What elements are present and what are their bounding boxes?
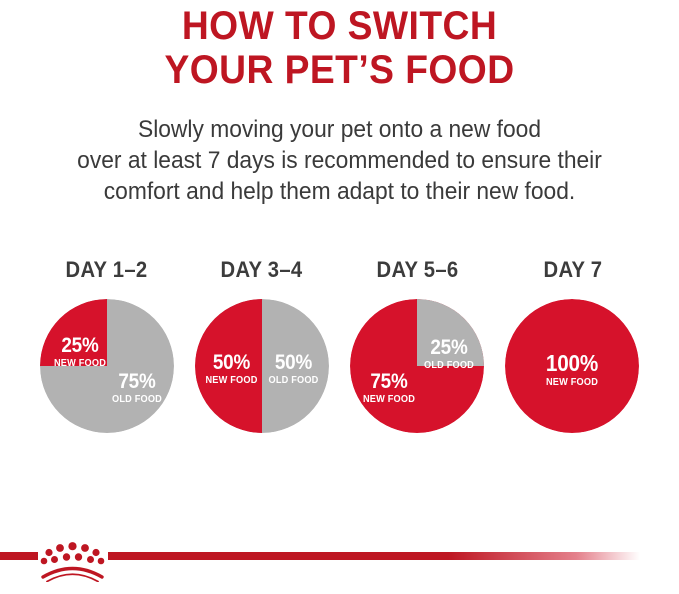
crown-arc	[43, 569, 102, 578]
pie-chart-day-1-2: DAY 1–2 25% NEW FOOD 75% OLD FOOD	[34, 258, 179, 433]
pie-graphic-1: 25% NEW FOOD 75% OLD FOOD	[40, 299, 174, 433]
royal-canin-crown-icon	[38, 532, 108, 582]
pie-chart-day-5-6: DAY 5–6 25% OLD FOOD 75% NEW FOOD	[345, 258, 490, 433]
page-title: HOW TO SWITCH YOUR PET’S FOOD	[0, 4, 679, 92]
footer-rule-right	[108, 552, 640, 560]
intro-paragraph: Slowly moving your pet onto a new food o…	[0, 114, 679, 207]
crown-svg	[38, 532, 108, 582]
slice-new-food-4	[505, 299, 639, 433]
title-line-1: HOW TO SWITCH	[24, 4, 655, 48]
pie-svg-2	[195, 299, 329, 433]
day-label-1: DAY 1–2	[66, 258, 148, 282]
intro-line-1: Slowly moving your pet onto a new food	[17, 114, 662, 145]
day-label-3: DAY 5–6	[376, 258, 458, 282]
pie-chart-day-7: DAY 7 100% NEW FOOD	[500, 258, 645, 433]
day-label-2: DAY 3–4	[221, 258, 303, 282]
pie-chart-row: DAY 1–2 25% NEW FOOD 75% OLD FOOD DAY 3–…	[0, 258, 679, 433]
crown-arc-inner	[47, 574, 98, 581]
slice-new-food-2	[195, 299, 262, 433]
pie-graphic-2: 50% NEW FOOD 50% OLD FOOD	[195, 299, 329, 433]
title-line-2: YOUR PET’S FOOD	[24, 48, 655, 92]
pie-svg-1	[40, 299, 174, 433]
pie-graphic-4: 100% NEW FOOD	[505, 299, 639, 433]
pie-svg-3	[350, 299, 484, 433]
slice-new-food-1	[40, 299, 107, 366]
intro-line-3: comfort and help them adapt to their new…	[17, 176, 662, 207]
pie-graphic-3: 25% OLD FOOD 75% NEW FOOD	[350, 299, 484, 433]
footer-rule-left	[0, 552, 38, 560]
day-label-4: DAY 7	[543, 258, 602, 282]
footer	[0, 532, 679, 594]
pie-chart-day-3-4: DAY 3–4 50% NEW FOOD 50% OLD FOOD	[189, 258, 334, 433]
slice-old-food-3	[417, 299, 484, 366]
pie-svg-4	[505, 299, 639, 433]
intro-line-2: over at least 7 days is recommended to e…	[17, 145, 662, 176]
